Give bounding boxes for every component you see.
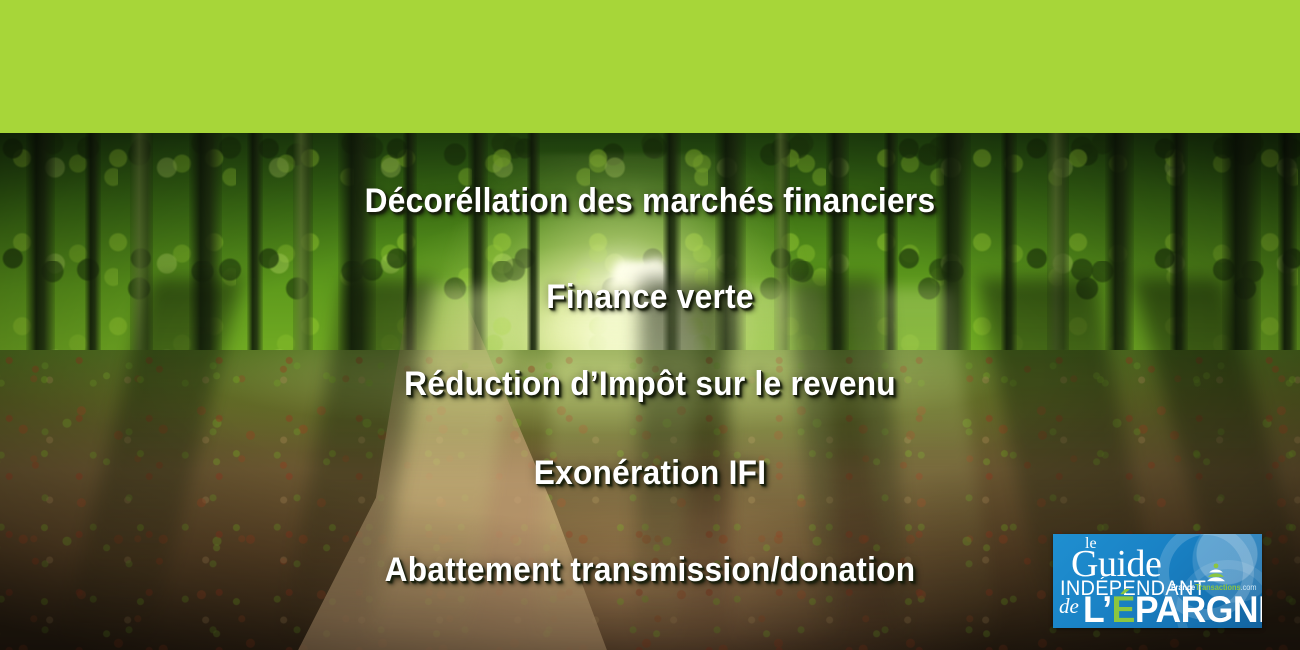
site-name-part2: Transactions bbox=[1195, 583, 1240, 592]
logo-line-de: de bbox=[1059, 596, 1079, 617]
people-group-icon bbox=[1205, 562, 1227, 584]
site-name-part3: .com bbox=[1241, 583, 1257, 592]
gfi-banner: GROUPEMENT FORESTIER D’INVESTISSEMENT (G… bbox=[0, 0, 1300, 650]
benefit-line-reduction-impot: Réduction d’Impôt sur le revenu bbox=[46, 365, 1255, 404]
benefit-line-exoneration-ifi: Exonération IFI bbox=[46, 454, 1255, 493]
logo-epargne-rest: PARGNE bbox=[1135, 589, 1262, 628]
logo-epargne-prefix: L’ bbox=[1083, 589, 1112, 628]
logo-line-epargne: L’ÉPARGNE bbox=[1083, 591, 1262, 628]
benefit-line-finance-verte: Finance verte bbox=[46, 278, 1255, 317]
site-name-part1: France bbox=[1171, 583, 1195, 592]
logo-epargne-accent-letter: É bbox=[1112, 589, 1135, 628]
guide-independant-epargne-logo[interactable]: le Guide INDÉPENDANT de L’ÉPARGNE France… bbox=[1053, 534, 1262, 628]
francetransactions-wordmark[interactable]: FranceTransactions.com bbox=[1171, 584, 1257, 592]
benefit-line-decorrelation: Décoréllation des marchés financiers bbox=[46, 182, 1255, 221]
header-band bbox=[0, 0, 1300, 133]
